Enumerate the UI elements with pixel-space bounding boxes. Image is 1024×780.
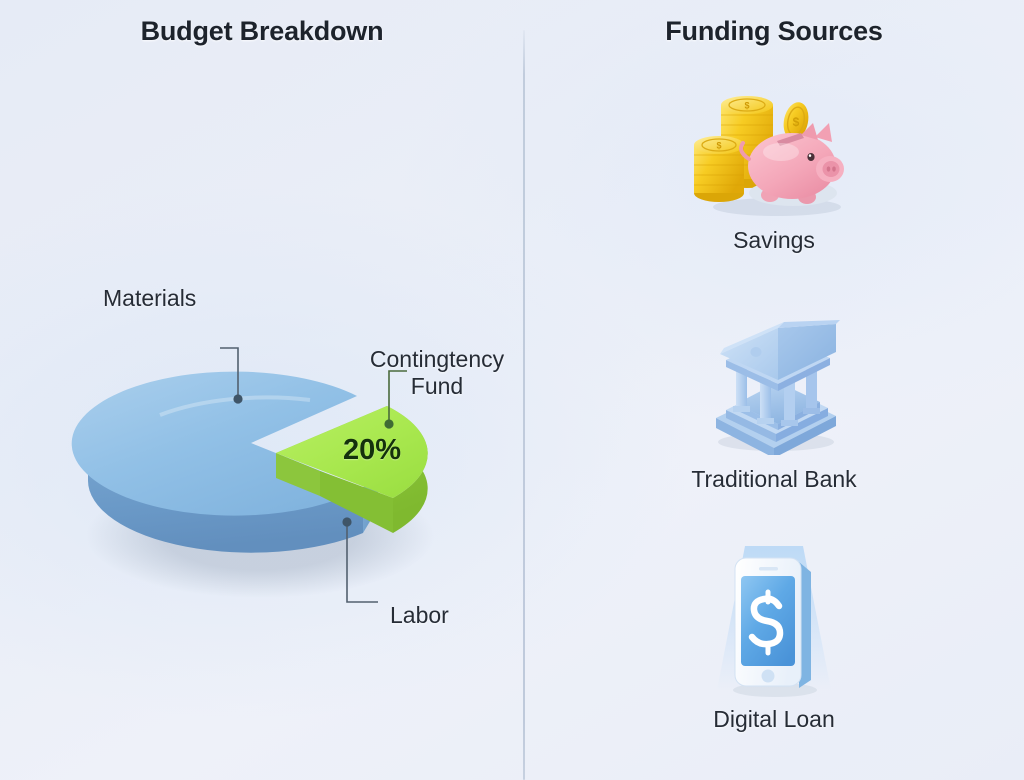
funding-source-digital-loan: Digital Loan: [524, 540, 1024, 733]
coin-stack-front: $: [694, 136, 744, 202]
phone-earpiece: [759, 567, 778, 571]
bank-building-icon: [524, 305, 1024, 460]
pie-value-label-20-percent: 20%: [343, 434, 401, 467]
pie-label-materials: Materials: [103, 285, 196, 312]
infographic-canvas: Budget Breakdown Funding Sources: [0, 0, 1024, 780]
piggy-bank-coins-icon: $ $ $: [524, 66, 1024, 221]
pie-label-contingency-fund: Contingtency Fund: [366, 346, 508, 400]
svg-text:$: $: [744, 100, 749, 110]
page-title-funding-sources: Funding Sources: [524, 16, 1024, 47]
smartphone-dollar-icon: [524, 540, 1024, 700]
leader-dot-labor: [342, 517, 351, 526]
pie-label-labor: Labor: [390, 602, 449, 629]
svg-text:$: $: [716, 140, 721, 150]
page-title-budget-breakdown: Budget Breakdown: [0, 16, 524, 47]
funding-source-label-savings: Savings: [524, 227, 1024, 254]
funding-source-savings: $ $ $: [524, 66, 1024, 254]
phone-home-button: [762, 670, 775, 683]
leader-dot-contingency: [384, 419, 393, 428]
funding-source-traditional-bank: Traditional Bank: [524, 305, 1024, 493]
funding-source-label-digital-loan: Digital Loan: [524, 706, 1024, 733]
funding-source-label-traditional-bank: Traditional Bank: [524, 466, 1024, 493]
leader-dot-materials: [233, 394, 242, 403]
svg-text:$: $: [793, 115, 800, 129]
